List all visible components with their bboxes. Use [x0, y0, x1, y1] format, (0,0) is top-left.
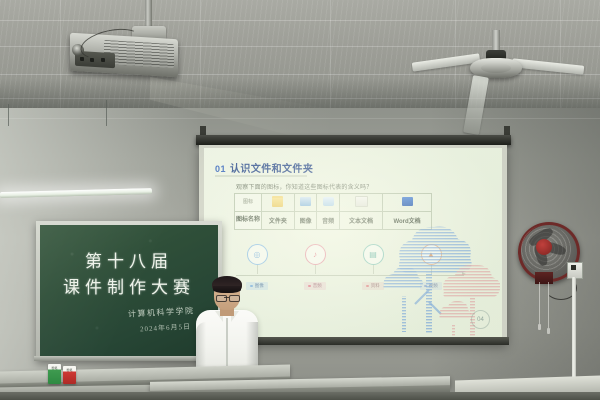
- table-cell-name: 文件夹: [262, 212, 295, 230]
- blackboard-heading-line2: 课件制作大赛: [40, 273, 218, 298]
- table-row: 图标: [235, 194, 432, 212]
- table-cell-icon: [339, 194, 382, 212]
- bullet-dot-icon: [250, 285, 253, 288]
- projector-port: [80, 57, 84, 61]
- table-cell-icon: [294, 194, 317, 212]
- timeline-label: 图像: [255, 283, 264, 288]
- classroom-blackboard: 第十八届 课件制作大赛 计算机科学学院 2024年6月5日: [40, 225, 218, 357]
- slide-title-row: 01 认识文件和文件夹: [215, 160, 313, 175]
- timeline-node: ♪ 音频: [292, 244, 338, 292]
- wall-seam: [0, 118, 600, 119]
- timeline-stem: [315, 265, 316, 274]
- light-suspension-wire: [106, 100, 107, 126]
- timeline-circle: ▤: [363, 244, 384, 265]
- table-cell-name: 音频: [317, 212, 340, 230]
- slide-page-badge: 04: [471, 310, 490, 329]
- pull-cord-handle[interactable]: [538, 324, 541, 330]
- floor: [0, 392, 600, 400]
- timeline-label: 资料: [371, 283, 380, 288]
- timeline-label-chip: 资料: [362, 282, 384, 290]
- slide-number: 01: [215, 164, 226, 174]
- timeline-label: 音频: [313, 283, 322, 288]
- title-underline: [215, 175, 307, 177]
- box-label: 粉笔: [63, 368, 76, 372]
- table-cell-icon: [383, 194, 432, 212]
- box-label: 粉笔: [48, 366, 61, 370]
- page-title: 认识文件和文件夹: [230, 160, 313, 175]
- table-cell-icon: [317, 194, 340, 212]
- timeline-stem: [257, 265, 258, 274]
- wall-fan-pull-cord[interactable]: [539, 282, 540, 324]
- text-file-icon: [355, 196, 368, 207]
- light-suspension-wire: [8, 104, 9, 126]
- table-cell-name: 图像: [294, 212, 317, 230]
- chalk-box-green: 粉笔: [48, 364, 61, 384]
- eyeglass-lens-right: [229, 295, 240, 302]
- ceiling-fan-hub-inner: [481, 63, 511, 73]
- folder-icon: [272, 196, 283, 207]
- image-icon: ◎: [254, 251, 261, 259]
- pull-cord-handle[interactable]: [547, 328, 550, 334]
- blackboard-heading-line1: 第十八届: [40, 247, 218, 272]
- timeline-circle: ◎: [247, 244, 268, 265]
- audio-icon: ♪: [313, 251, 317, 259]
- wall-fan-hub: [536, 239, 552, 255]
- timeline-circle: ♪: [305, 244, 326, 265]
- bullet-dot-icon: [308, 285, 311, 288]
- document-icon: ▤: [369, 251, 377, 259]
- slide-content: 01 认识文件和文件夹 观察下面的图标，你知道这些图标代表的含义吗？ 图标 图标…: [204, 148, 502, 338]
- image-icon: [300, 197, 311, 206]
- audio-icon: [323, 197, 334, 206]
- timeline-label-chip: 图像: [246, 282, 268, 290]
- table-row-header: 图标: [235, 194, 262, 212]
- table-cell-icon: [262, 194, 295, 212]
- classroom-scene: 01 认识文件和文件夹 观察下面的图标，你知道这些图标代表的含义吗？ 图标 图标…: [0, 0, 600, 400]
- table-cell-name: 文本文档: [339, 212, 382, 230]
- eyeglass-bridge: [224, 297, 229, 298]
- timeline-stem: [373, 265, 374, 274]
- chalk-box-red: 粉笔: [63, 366, 76, 384]
- table-row-header: 图标名称: [235, 212, 262, 230]
- bullet-dot-icon: [366, 285, 369, 288]
- slide-question-text: 观察下面的图标，你知道这些图标代表的含义吗？: [236, 182, 372, 191]
- presenter-hair-fringe: [213, 286, 241, 293]
- screen-roller-case: [196, 135, 511, 145]
- timeline-label-chip: 音频: [304, 282, 326, 290]
- ceiling-grid-line: [0, 20, 600, 21]
- word-doc-icon: [402, 197, 413, 206]
- wall-switch-toggle[interactable]: [571, 265, 576, 270]
